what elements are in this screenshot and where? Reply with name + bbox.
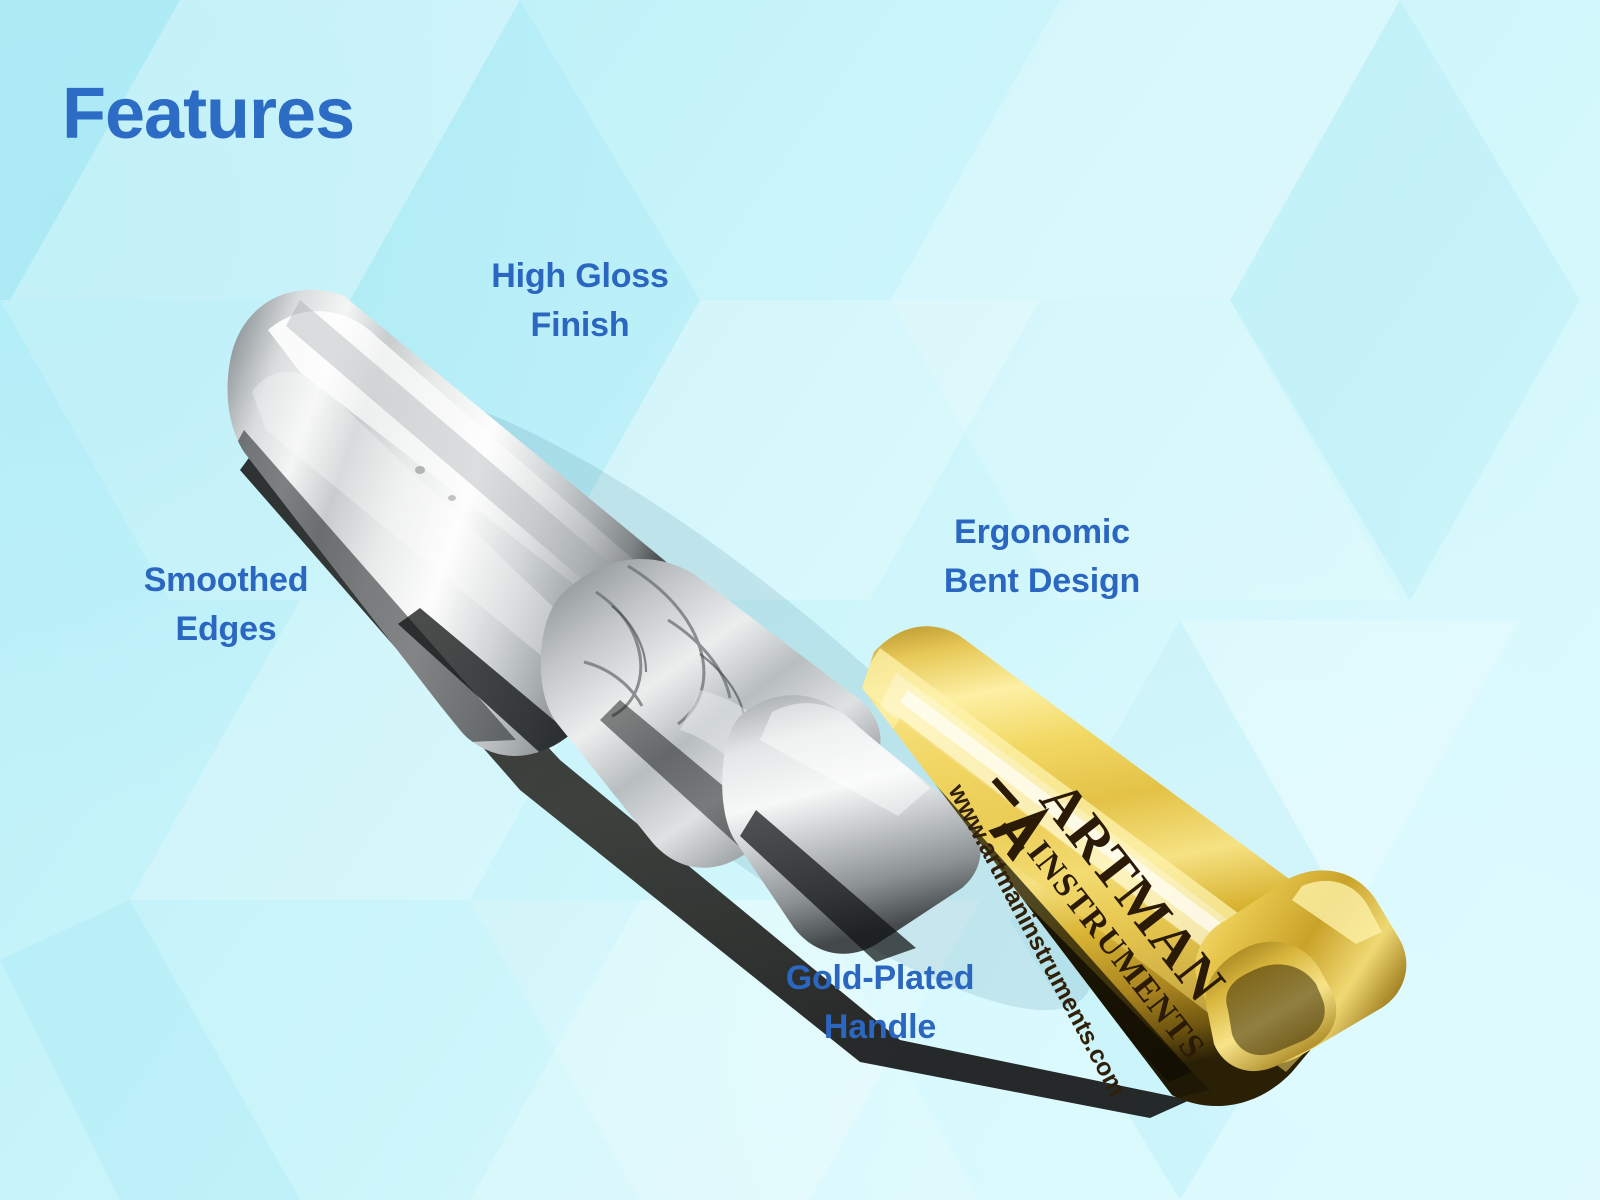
feature-label-gold-plated-handle: Gold-Plated Handle [730,954,1030,1052]
feature-label-line-2: Finish [432,301,728,350]
feature-infographic: ARTMAN INSTRUMENTS www.artmaninstruments… [0,0,1600,1200]
feature-label-line-1: Ergonomic [892,508,1192,557]
feature-label-line-1: Gold-Plated [730,954,1030,1003]
feature-label-line-1: Smoothed [78,556,374,605]
feature-label-line-2: Bent Design [892,557,1192,606]
feature-label-high-gloss-finish: High Gloss Finish [432,252,728,350]
feature-label-line-1: High Gloss [432,252,728,301]
feature-label-smoothed-edges: Smoothed Edges [78,556,374,654]
feature-label-line-2: Edges [78,605,374,654]
page-title: Features [62,78,354,150]
feature-label-ergonomic-bent-design: Ergonomic Bent Design [892,508,1192,606]
feature-label-line-2: Handle [730,1003,1030,1052]
